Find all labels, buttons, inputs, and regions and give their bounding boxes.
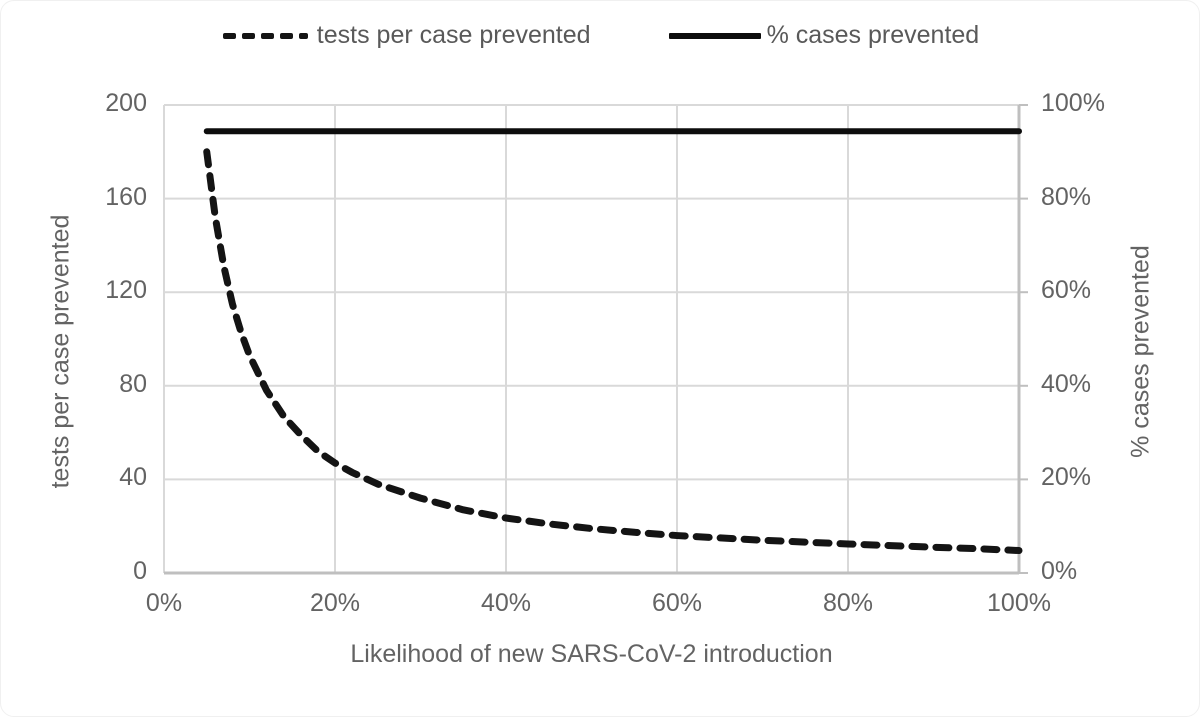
- y-left-tick-label: 200: [21, 91, 147, 116]
- chart-container: tests per case prevented % cases prevent…: [0, 0, 1200, 717]
- plot-area: 040801201602000%20%40%60%80%100%0%20%40%…: [1, 1, 1200, 717]
- x-tick-label: 60%: [607, 591, 747, 616]
- y-left-tick-label: 40: [21, 465, 147, 490]
- y-left-tick-label: 0: [21, 559, 147, 584]
- y-left-tick-label: 120: [21, 278, 147, 303]
- x-tick-label: 80%: [778, 591, 918, 616]
- y-left-tick-label: 160: [21, 185, 147, 210]
- x-tick-label: 100%: [949, 591, 1089, 616]
- x-tick-label: 20%: [265, 591, 405, 616]
- x-axis-title: Likelihood of new SARS-CoV-2 introductio…: [164, 642, 1019, 667]
- x-tick-label: 0%: [94, 591, 234, 616]
- y-left-axis-title: tests per case prevented: [49, 102, 74, 602]
- x-tick-label: 40%: [436, 591, 576, 616]
- series-line-tests-per-case-prevented: [207, 152, 1019, 551]
- y-right-axis-title: % cases prevented: [1129, 102, 1154, 602]
- y-left-tick-label: 80: [21, 372, 147, 397]
